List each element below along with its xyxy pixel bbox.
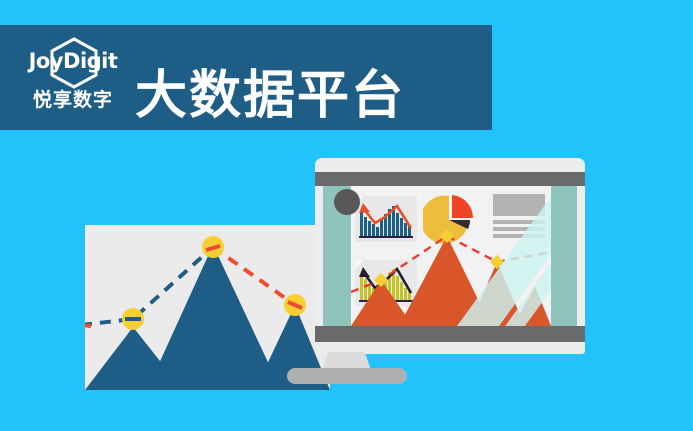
monitor-screen xyxy=(323,186,577,326)
logo-chinese-name: 悦享数字 xyxy=(18,91,128,110)
dashboard-content xyxy=(351,186,551,326)
header-banner: JoyDigit 悦享数字 大数据平台 xyxy=(0,25,492,130)
desktop-monitor xyxy=(315,158,585,354)
trend-line-red-tail xyxy=(85,325,91,326)
data-point-marker xyxy=(374,273,388,287)
page-title: 大数据平台 xyxy=(135,70,405,122)
illustration-canvas: JoyDigit 悦享数字 大数据平台 xyxy=(0,0,693,431)
monitor-bottom-bezel xyxy=(315,326,585,342)
logo-wordmark: JoyDigit xyxy=(18,51,128,72)
blue-mountain-svg xyxy=(85,225,330,390)
monitor-power-indicator xyxy=(334,189,360,215)
mountain-peak-center xyxy=(147,245,281,390)
arrow-up-icon xyxy=(359,203,370,213)
monitor-stand-base xyxy=(287,368,407,384)
screen-band-right xyxy=(551,186,577,326)
brand-logo: JoyDigit 悦享数字 xyxy=(18,35,128,120)
pie-slice-b xyxy=(452,195,473,218)
data-point-marker xyxy=(440,230,454,243)
monitor-top-bezel xyxy=(315,172,585,186)
blue-mountain-chart xyxy=(85,225,330,390)
image-block xyxy=(493,194,545,216)
